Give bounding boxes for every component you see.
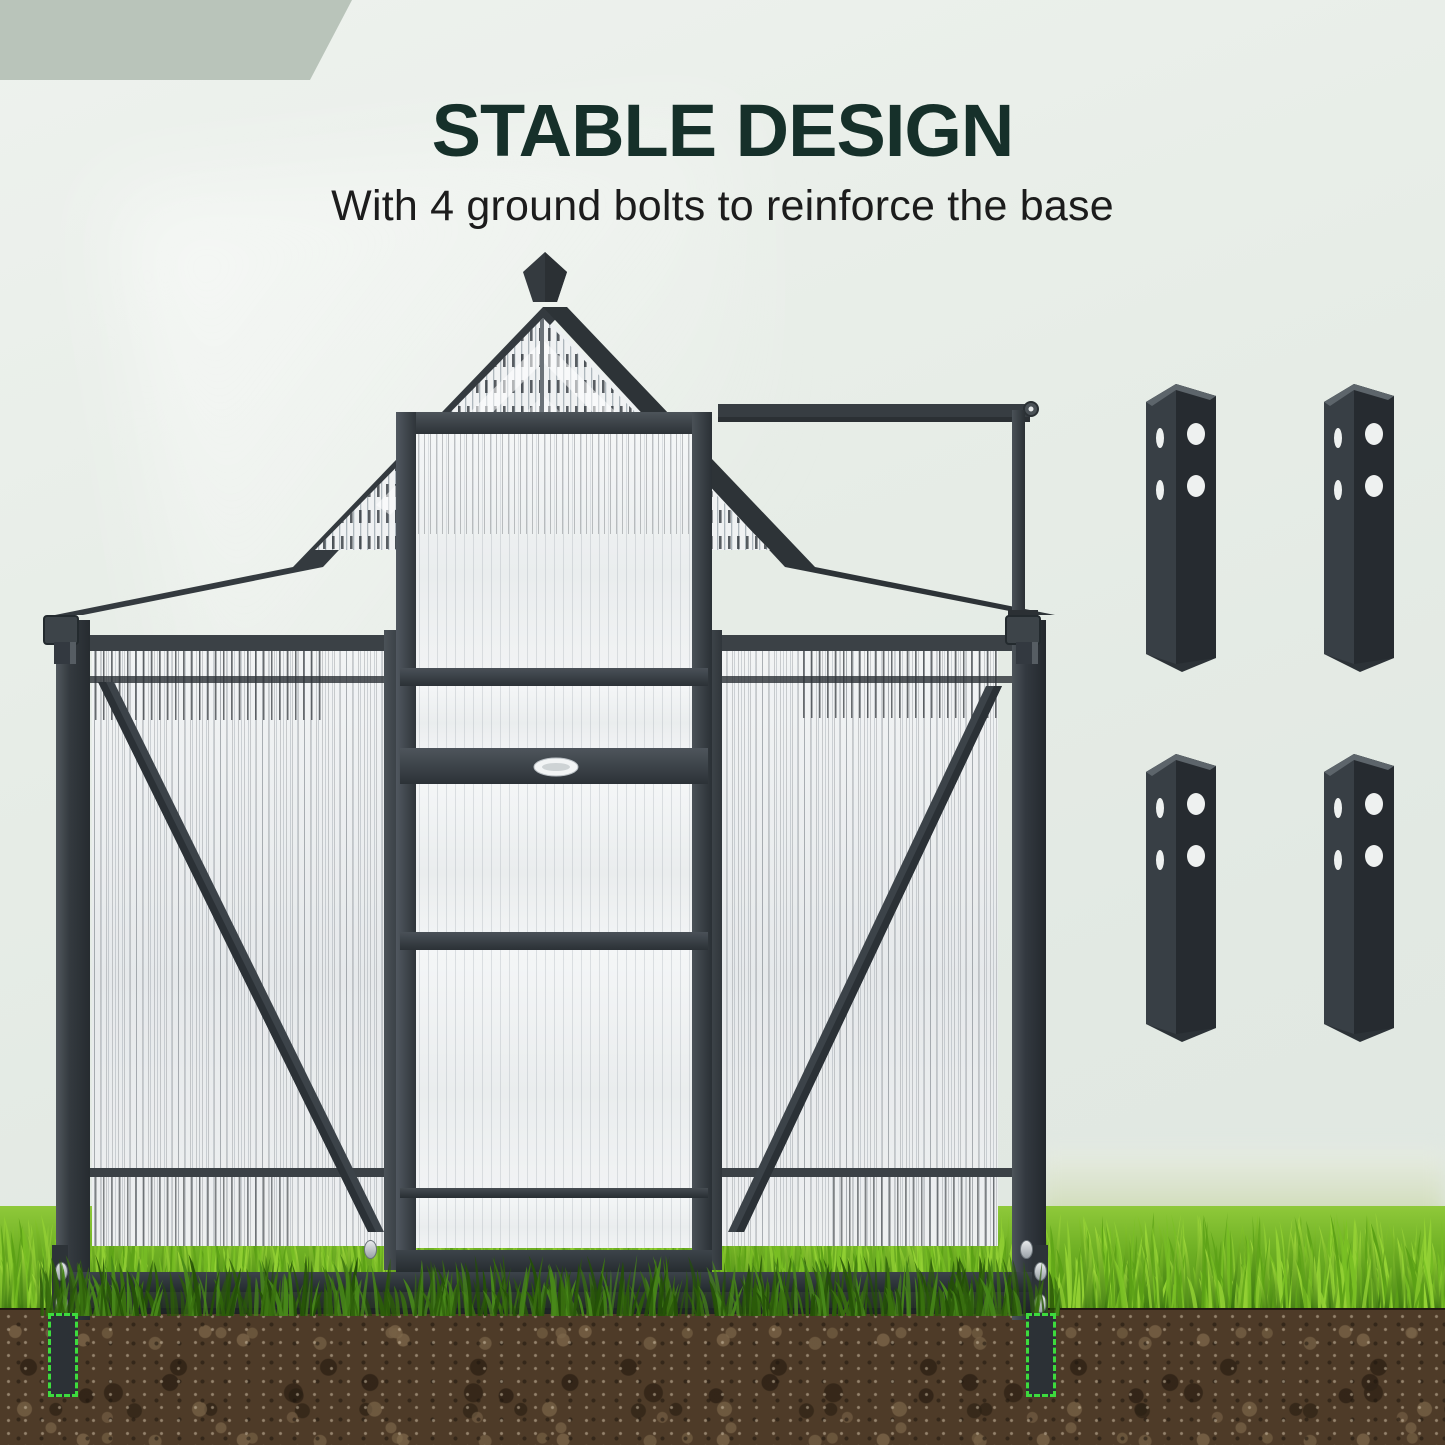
buried-bolt-right	[1026, 1313, 1056, 1397]
rain-gutter-shadow	[718, 417, 1030, 422]
soil-cross-section	[0, 1310, 1445, 1445]
door-pane-1-texture	[416, 434, 692, 534]
ground-bolt-top-right	[1316, 372, 1400, 672]
rain-gutter	[718, 404, 1030, 417]
door-pane-4	[416, 950, 692, 1188]
door-frame-left	[396, 412, 416, 1274]
foreground-grass	[40, 1240, 1060, 1316]
ground-bolt-bottom-right	[1316, 742, 1400, 1042]
door-handle-badge[interactable]	[532, 756, 580, 778]
right-corner-bracket-icon	[1000, 612, 1062, 668]
soil-grain	[0, 1310, 1445, 1445]
left-corner-bracket-icon	[40, 612, 102, 668]
door-pane-3	[416, 784, 692, 932]
door-crossbar-1	[400, 668, 708, 686]
product-feature-image: STABLE DESIGN With 4 ground bolts to rei…	[0, 0, 1445, 1445]
page-subtitle: With 4 ground bolts to reinforce the bas…	[0, 182, 1445, 231]
door-pane-2	[416, 686, 692, 748]
corner-accent-band	[0, 0, 356, 80]
page-title: STABLE DESIGN	[0, 88, 1445, 173]
door-crossbar-3	[400, 932, 708, 950]
diagonal-brace-left	[88, 640, 388, 1252]
downpipe-support	[1012, 410, 1025, 615]
door-crossbar-4	[400, 1188, 708, 1198]
buried-bolt-left	[48, 1313, 78, 1397]
left-corner-post	[56, 620, 90, 1320]
door-header-rail	[396, 412, 712, 434]
diagonal-brace-right	[712, 640, 1012, 1252]
right-roof-slope	[700, 390, 1030, 640]
ground-bolt-bottom-left	[1138, 742, 1222, 1042]
ground-bolt-top-left	[1138, 372, 1222, 672]
right-corner-post	[1012, 620, 1046, 1320]
door-frame-right	[692, 412, 712, 1274]
